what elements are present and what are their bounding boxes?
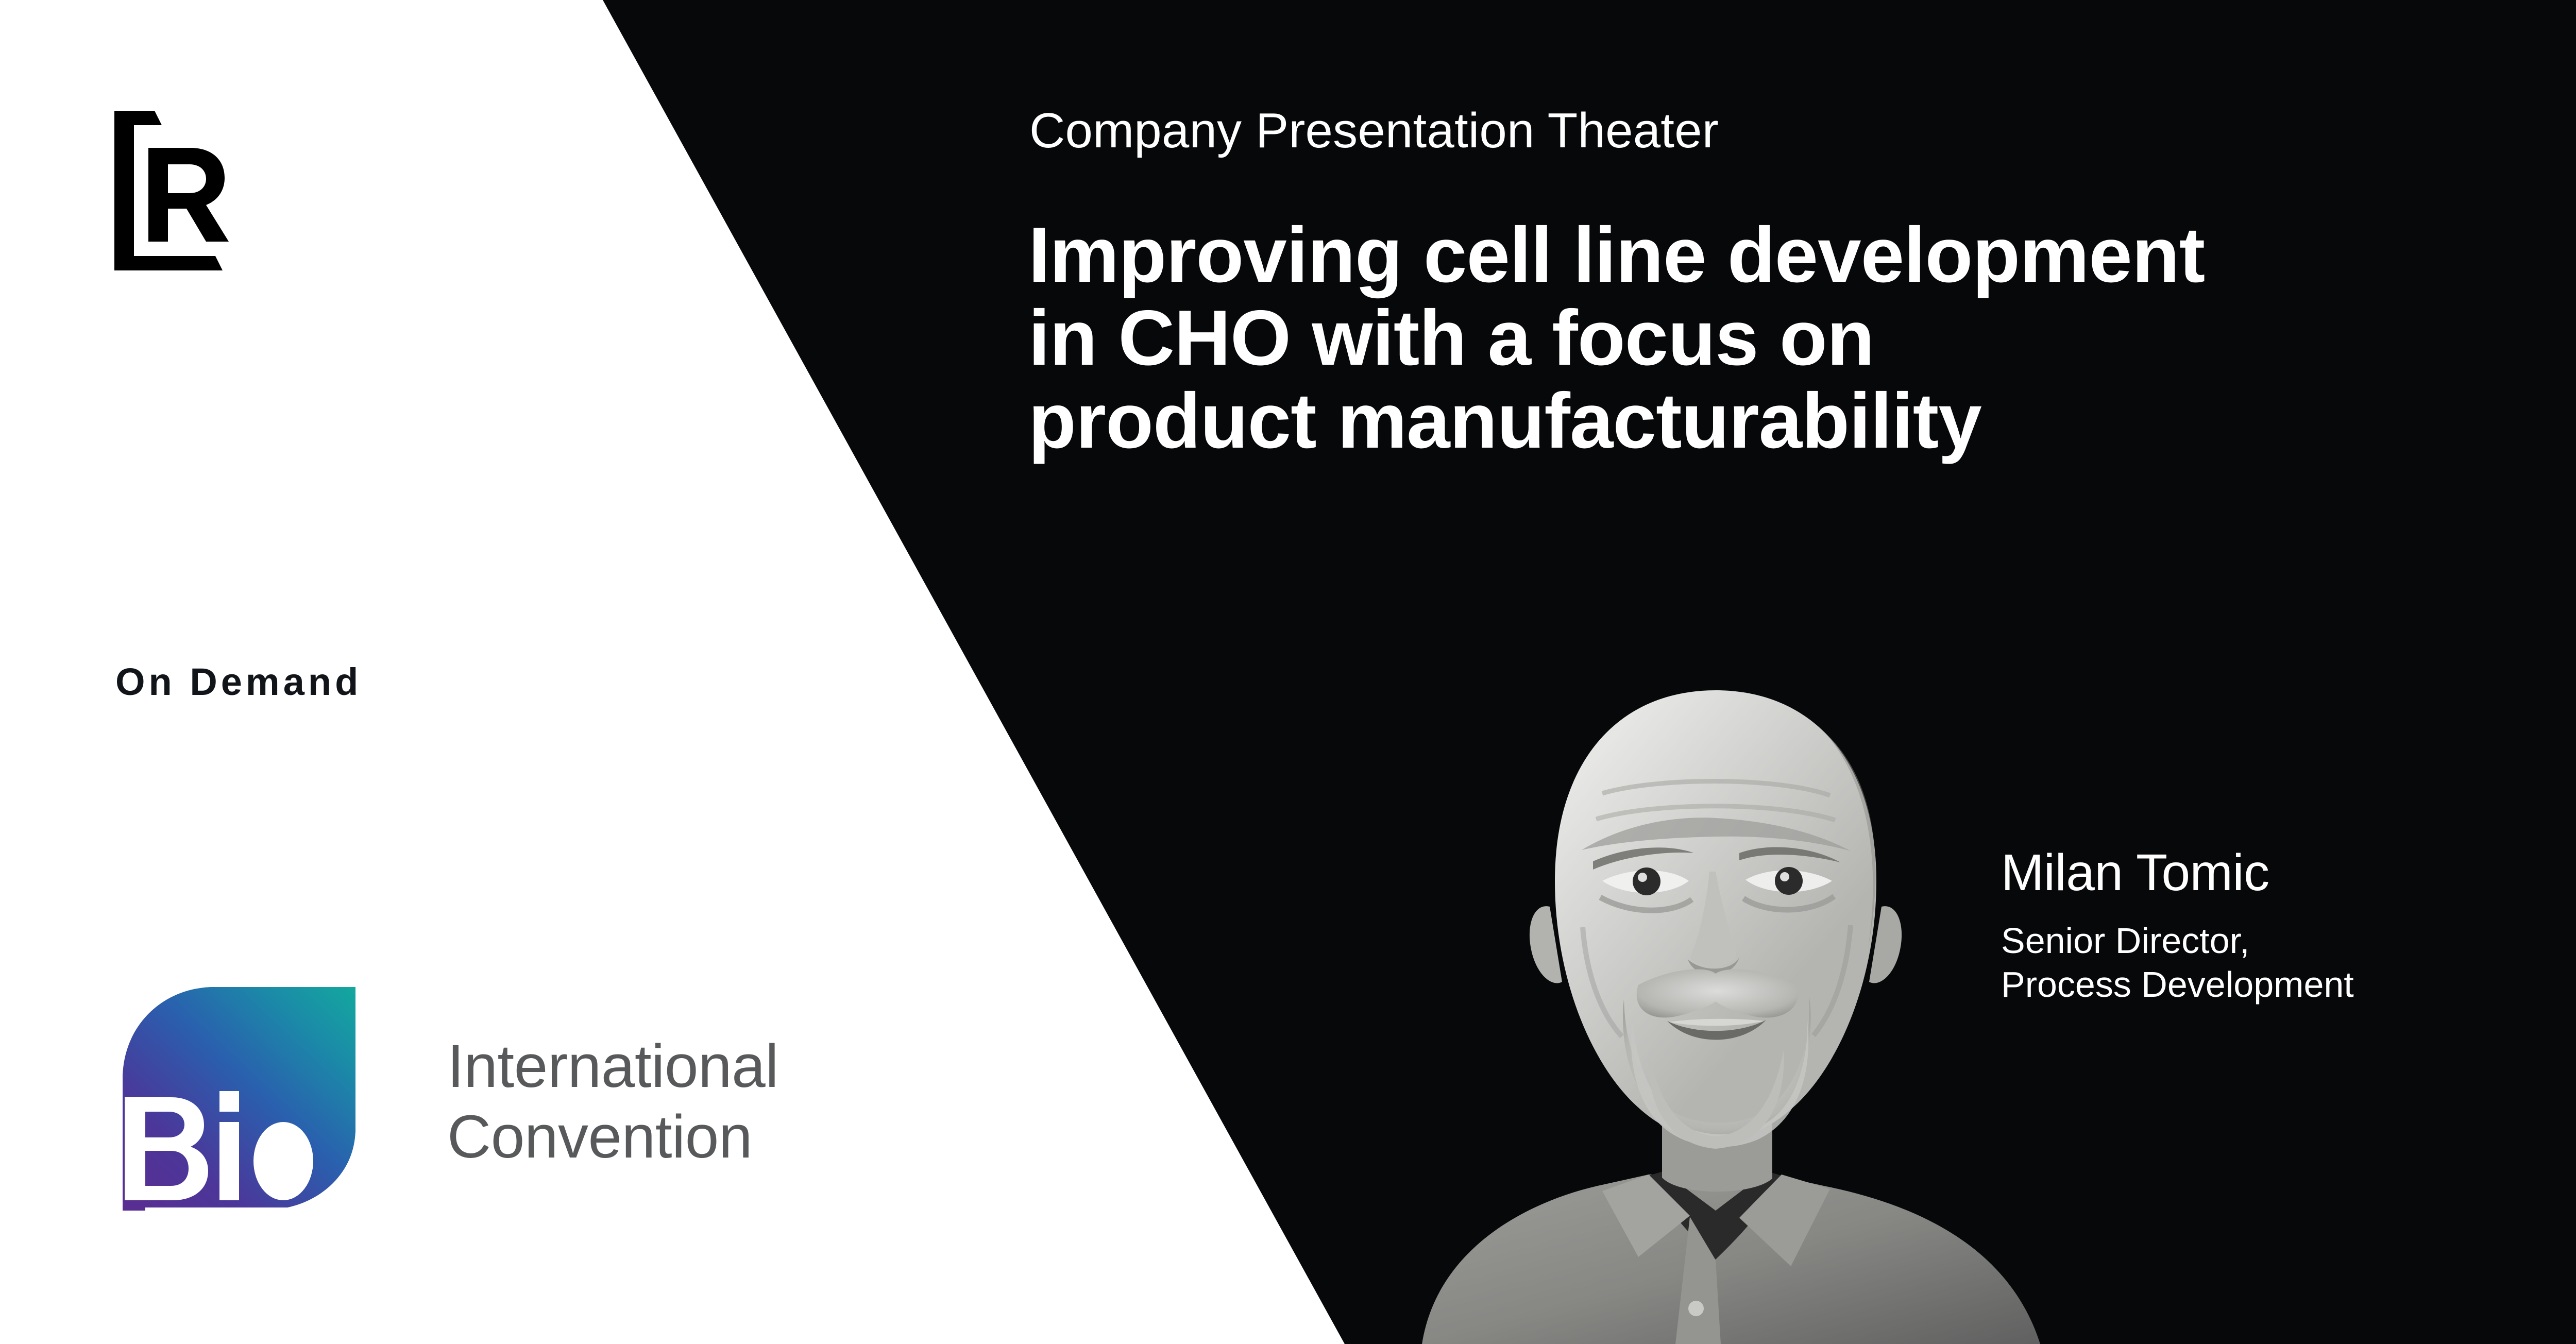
- right-panel: Company Presentation Theater Improving c…: [0, 0, 2576, 1344]
- speaker-role: Senior Director, Process Development: [2001, 919, 2354, 1007]
- session-title-line2: in CHO with a focus on: [1028, 297, 2205, 380]
- session-title-line1: Improving cell line development: [1028, 214, 2205, 297]
- session-category-label: Company Presentation Theater: [1029, 101, 1719, 160]
- session-title: Improving cell line development in CHO w…: [1028, 214, 2205, 463]
- speaker-name: Milan Tomic: [2001, 845, 2354, 900]
- speaker-info: Milan Tomic Senior Director, Process Dev…: [2001, 845, 2354, 1007]
- speaker-role-line2: Process Development: [2001, 963, 2354, 1007]
- speaker-role-line1: Senior Director,: [2001, 919, 2354, 963]
- session-title-line3: product manufacturability: [1028, 380, 2205, 463]
- promo-banner: On Demand: [0, 0, 2576, 1344]
